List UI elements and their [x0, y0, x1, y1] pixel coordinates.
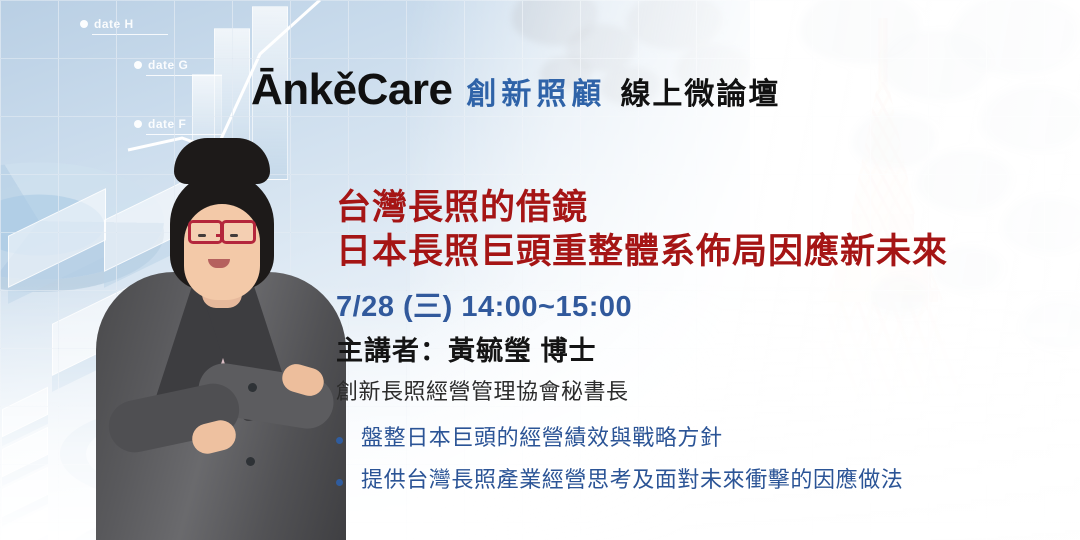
- glasses-lens-right: [221, 220, 256, 244]
- glasses-lens-left: [188, 220, 223, 244]
- bullet-dot-icon: [336, 479, 343, 486]
- topic-bullet-list: 盤整日本巨頭的經營績效與戰略方針 提供台灣長照產業經營思考及面對未來衝擊的因應做…: [336, 425, 903, 510]
- speaker-name: 主講者：黃毓瑩 博士: [336, 329, 597, 368]
- bullet-dot-icon: [336, 437, 343, 444]
- portrait-button-2: [246, 457, 255, 466]
- speaker-portrait: [96, 140, 346, 540]
- portrait-face: [184, 204, 260, 300]
- webinar-poster: date H date G date F: [0, 0, 1080, 540]
- bullet-text-2: 提供台灣長照產業經營思考及面對未來衝擊的因應做法: [361, 467, 903, 493]
- event-type-label: 線上微論壇: [620, 80, 780, 110]
- glasses-bridge: [216, 234, 223, 237]
- portrait-hair-fringe: [174, 138, 270, 184]
- portrait-button-1: [248, 383, 257, 392]
- bullet-text-1: 盤整日本巨頭的經營績效與戰略方針: [361, 425, 723, 451]
- title-line-1: 台灣長照的借鏡: [336, 186, 948, 230]
- speaker-affiliation: 創新長照經營管理協會秘書長: [336, 374, 629, 406]
- brand-name-chinese: 創新照顧: [466, 80, 606, 110]
- page-title: 台灣長照的借鏡 日本長照巨頭重整體系佈局因應新未來: [336, 186, 948, 274]
- event-datetime: 7/28 (三) 14:00~15:00: [336, 283, 632, 325]
- brand-logo: ĀnkěCare 創新照顧 線上微論壇: [251, 68, 780, 112]
- brand-name-english: ĀnkěCare: [251, 68, 452, 112]
- list-item: 盤整日本巨頭的經營績效與戰略方針: [336, 425, 903, 451]
- title-line-2: 日本長照巨頭重整體系佈局因應新未來: [336, 230, 948, 274]
- list-item: 提供台灣長照產業經營思考及面對未來衝擊的因應做法: [336, 467, 903, 493]
